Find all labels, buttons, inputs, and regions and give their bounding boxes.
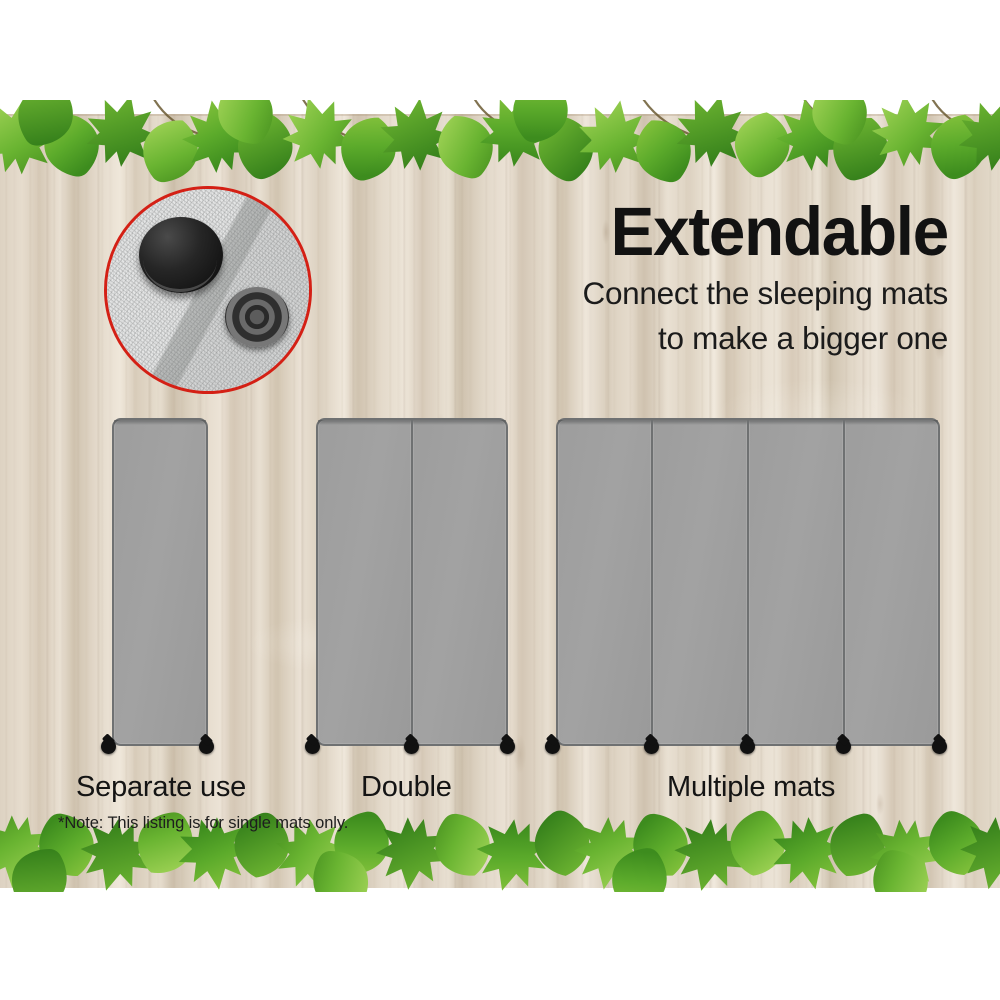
snap-dot bbox=[836, 739, 851, 754]
snap-fastener-closeup bbox=[104, 186, 312, 394]
mat-group-multiple bbox=[556, 418, 940, 746]
mat-panel bbox=[412, 418, 508, 746]
subtitle-line-1: Connect the sleeping mats bbox=[518, 274, 948, 313]
mat-group-double bbox=[316, 418, 508, 746]
headline-block: Extendable Connect the sleeping mats to … bbox=[518, 196, 948, 358]
snap-dot bbox=[101, 739, 116, 754]
footnote-note: *Note: This listing is for single mats o… bbox=[58, 814, 348, 833]
snap-dot bbox=[740, 739, 755, 754]
label-double: Double bbox=[361, 771, 452, 804]
label-separate-use: Separate use bbox=[76, 771, 246, 804]
mat-panel bbox=[748, 418, 844, 746]
mat-panel bbox=[556, 418, 652, 746]
mat-panel bbox=[316, 418, 412, 746]
snap-dot bbox=[932, 739, 947, 754]
page-title: Extendable bbox=[540, 196, 949, 268]
snap-button-socket-icon bbox=[225, 287, 289, 347]
snap-dot bbox=[305, 739, 320, 754]
mat-panel bbox=[112, 418, 208, 746]
snap-dot bbox=[545, 739, 560, 754]
mat-panel bbox=[844, 418, 940, 746]
product-feature-image: Extendable Connect the sleeping mats to … bbox=[0, 0, 1000, 1000]
panel-top-edge bbox=[0, 114, 1000, 116]
label-multiple-mats: Multiple mats bbox=[667, 771, 835, 804]
mat-group-separate bbox=[112, 418, 208, 746]
snap-dot bbox=[404, 739, 419, 754]
snap-dot bbox=[644, 739, 659, 754]
subtitle-line-2: to make a bigger one bbox=[518, 319, 948, 358]
snap-button-cap-icon bbox=[139, 217, 223, 293]
mat-panel bbox=[652, 418, 748, 746]
fabric-speckle-texture bbox=[107, 189, 309, 391]
snap-dot bbox=[199, 739, 214, 754]
snap-dot bbox=[500, 739, 515, 754]
